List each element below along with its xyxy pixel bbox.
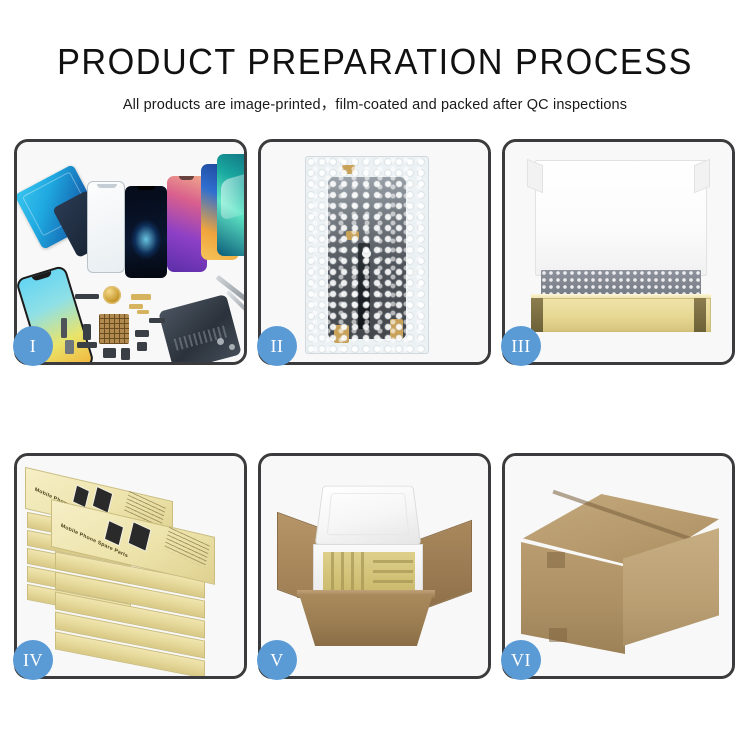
page-header: PRODUCT PREPARATION PROCESS All products… [0, 0, 750, 114]
page-title: PRODUCT PREPARATION PROCESS [19, 44, 732, 80]
step-3-image [505, 142, 732, 362]
small-part-icon [137, 342, 147, 351]
box-edge-icon [331, 552, 334, 592]
open-mailer-box-scene [505, 142, 732, 362]
step-1-image [17, 142, 244, 362]
small-part-icon [65, 340, 74, 354]
box-right-lip-icon [694, 298, 706, 332]
small-part-icon [77, 342, 97, 348]
box-edge-icon [341, 552, 344, 592]
small-part-icon [135, 330, 149, 337]
box-screen-swatch-icon [128, 521, 152, 552]
small-part-icon [149, 318, 165, 323]
styrofoam-lid-icon [315, 486, 422, 545]
process-step-4-panel: Mobile Phone Spare Parts Mobile Phone Sp… [14, 453, 247, 679]
white-box-lid-icon [535, 160, 707, 276]
box-edge-icon [373, 580, 413, 583]
bubble-wrap-bag-icon [305, 156, 429, 354]
phone-parts-scene [17, 142, 244, 362]
box-edge-icon [351, 552, 354, 592]
process-step-2-panel: II [258, 139, 491, 365]
lcd-screen-icon [125, 186, 167, 278]
small-part-icon [61, 318, 67, 338]
lid-left-flap-icon [527, 159, 543, 193]
chip-grid-icon [99, 314, 129, 344]
carton-body-icon [299, 594, 433, 646]
step-badge-1: I [13, 326, 53, 366]
copper-coil-icon [103, 286, 121, 304]
gold-connector-icon [129, 304, 143, 309]
small-part-icon [83, 324, 91, 340]
gold-connector-icon [137, 310, 149, 314]
gold-connector-icon [131, 294, 151, 300]
screw-icon [217, 338, 224, 345]
box-edge-icon [361, 552, 364, 592]
process-step-6-panel: VI [502, 453, 735, 679]
step-2-image [261, 142, 488, 362]
process-step-1-panel: I [14, 139, 247, 365]
carton-tape-icon [547, 552, 565, 568]
carton-with-cooler-scene [261, 456, 488, 676]
step-5-image [261, 456, 488, 676]
step-6-image [505, 456, 732, 676]
box-edge-icon [373, 570, 413, 573]
bubble-texture-highlight-icon [306, 157, 428, 353]
screw-icon [229, 344, 235, 350]
tempered-glass-icon [87, 181, 125, 273]
step-badge-6: VI [501, 640, 541, 680]
process-step-grid: I II [14, 139, 736, 679]
process-step-3-panel: III [502, 139, 735, 365]
step-4-image: Mobile Phone Spare Parts Mobile Phone Sp… [17, 456, 244, 676]
phone-back-cover-icon [158, 294, 242, 362]
lid-right-flap-icon [694, 159, 710, 193]
small-part-icon [121, 348, 130, 360]
carton-tape-icon [549, 628, 567, 642]
step-badge-5: V [257, 640, 297, 680]
step-badge-4: IV [13, 640, 53, 680]
yellow-boxes-inside-icon [323, 552, 415, 592]
box-spec-lines-icon [164, 527, 210, 568]
small-part-icon [103, 348, 116, 358]
sealed-carton-scene [505, 456, 732, 676]
stacked-boxes-scene: Mobile Phone Spare Parts Mobile Phone Sp… [17, 456, 244, 676]
step-badge-3: III [501, 326, 541, 366]
yellow-box-base-icon [531, 298, 711, 332]
page-subtitle: All products are image-printed，film-coat… [0, 93, 750, 114]
teal-phone-icon [217, 154, 244, 256]
small-part-icon [75, 294, 99, 299]
process-step-5-panel: V [258, 453, 491, 679]
step-badge-2: II [257, 326, 297, 366]
box-screen-swatch-icon [104, 520, 124, 547]
box-edge-icon [373, 560, 413, 563]
bubble-wrap-scene [261, 142, 488, 362]
box-left-lip-icon [531, 298, 543, 332]
product-preparation-process-page: PRODUCT PREPARATION PROCESS All products… [0, 0, 750, 750]
